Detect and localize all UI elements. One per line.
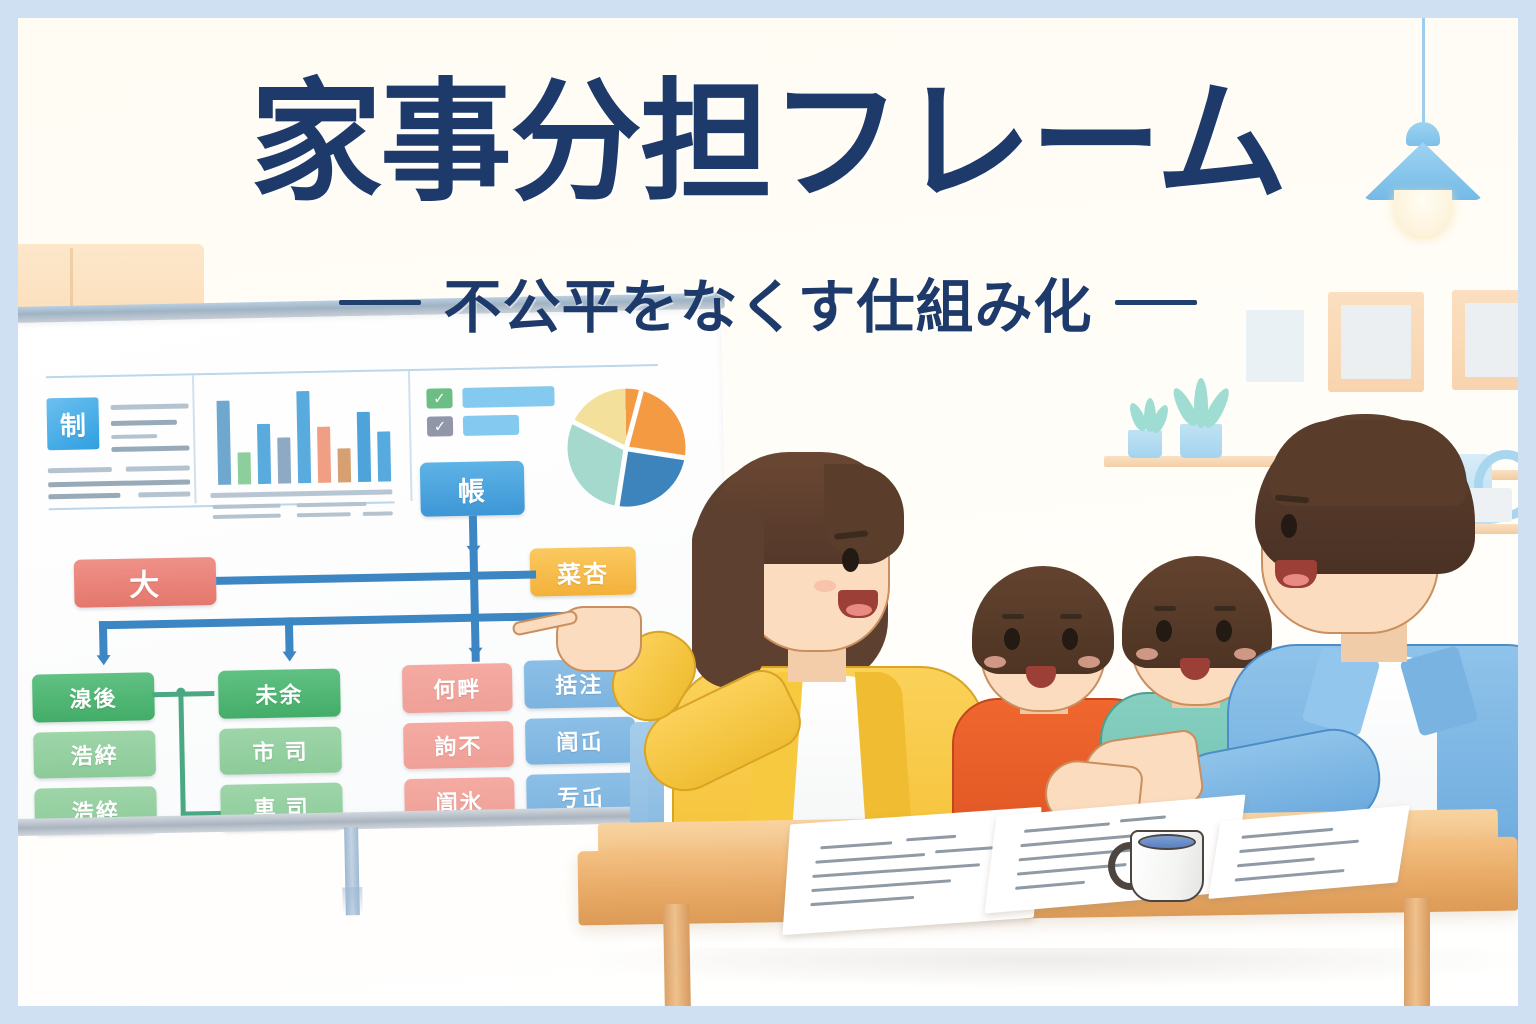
bar-chart-axis xyxy=(210,489,392,498)
bar-chart-caption xyxy=(297,512,351,517)
flow-connector-vertical xyxy=(285,617,294,653)
flow-box[interactable]: 何畔 xyxy=(402,663,513,713)
bar-item xyxy=(277,437,291,483)
flow-connector-vertical xyxy=(99,621,108,657)
paper-text-line xyxy=(1024,822,1110,833)
flow-side-node[interactable]: 菜杏 xyxy=(530,547,637,597)
flow-box[interactable]: 訽不 xyxy=(403,721,514,769)
mother-hair-side xyxy=(692,510,764,688)
checklist-check-icon-2[interactable]: ✓ xyxy=(427,416,453,437)
paper-text-line xyxy=(1237,857,1315,867)
doc-text-line xyxy=(111,445,189,452)
bar-chart-caption xyxy=(213,504,281,509)
bar-item xyxy=(296,391,311,483)
page-title: 家事分担フレーム xyxy=(18,74,1518,213)
father-eye xyxy=(1281,514,1297,538)
child-orange-blush xyxy=(1078,656,1100,668)
paper-text-line xyxy=(1235,869,1345,882)
doc-text-line xyxy=(48,467,112,473)
child-orange-eye xyxy=(1062,628,1078,650)
flow-connector-vertical xyxy=(469,516,480,662)
mother-blush xyxy=(814,580,836,592)
child-teal-eye xyxy=(1216,620,1232,642)
paper-text-line xyxy=(935,846,993,853)
paper-text-line xyxy=(1239,840,1359,854)
flow-arrow-down xyxy=(97,655,111,665)
page-subtitle: 不公平をなくす仕組み化 xyxy=(443,260,1092,344)
whiteboard-rule xyxy=(46,364,658,378)
paper-text-line xyxy=(811,879,951,892)
floor-shadow xyxy=(558,948,1518,988)
mother-tongue xyxy=(846,604,872,616)
whiteboard-divider xyxy=(408,371,413,501)
flow-connector-green xyxy=(178,692,185,816)
bar-item xyxy=(238,452,252,484)
bar-item xyxy=(377,431,391,481)
checklist-bar-1 xyxy=(462,386,554,408)
bar-chart-caption xyxy=(363,511,393,516)
flow-arrow-down xyxy=(469,648,483,658)
child-teal-eye xyxy=(1156,620,1172,642)
child-orange-eyebrow xyxy=(1002,614,1024,619)
paper-text-line xyxy=(1015,881,1085,890)
flow-box[interactable]: 訚屲 xyxy=(525,717,636,765)
subtitle-rule-right xyxy=(1115,300,1197,305)
flow-arrow-down xyxy=(466,546,480,556)
flow-box[interactable]: 湶後 xyxy=(32,672,155,722)
bar-chart-caption xyxy=(297,502,367,507)
child-orange-blush xyxy=(984,656,1006,668)
doc-text-line xyxy=(48,479,190,487)
doc-card-icon: 制 xyxy=(46,397,99,450)
flow-arrow-down xyxy=(283,651,297,661)
doc-text-line xyxy=(48,493,120,499)
bar-item xyxy=(317,427,331,483)
illustration-canvas: 制 xyxy=(0,0,1536,1024)
child-orange-eyebrow xyxy=(1060,614,1082,619)
flow-connector-horizontal xyxy=(216,571,536,585)
paper-text-line xyxy=(815,853,925,864)
flow-box[interactable]: 浩綷 xyxy=(33,730,156,778)
bar-item xyxy=(337,448,351,482)
doc-text-line xyxy=(138,491,190,497)
paper-text-line xyxy=(820,841,892,849)
whiteboard-divider xyxy=(192,375,197,503)
flow-box[interactable]: 市 司 xyxy=(219,726,342,774)
doc-text-line xyxy=(111,420,177,426)
bar-chart-caption xyxy=(213,514,281,519)
doc-text-line xyxy=(111,434,157,439)
plant-small-pot xyxy=(1128,430,1162,458)
mug-liquid xyxy=(1138,834,1196,850)
bar-chart xyxy=(210,385,390,485)
mother-eye xyxy=(842,548,859,572)
paper-text-line xyxy=(810,896,914,906)
father-tongue xyxy=(1283,574,1309,586)
inner-frame: 制 xyxy=(18,18,1518,1006)
father-hair-front xyxy=(1269,420,1467,506)
subtitle-block: 不公平をなくす仕組み化 xyxy=(18,260,1518,344)
flow-connector-horizontal xyxy=(99,612,579,630)
bar-item xyxy=(257,424,271,484)
paper-text-line xyxy=(1241,828,1333,839)
flow-root-node[interactable]: 帳 xyxy=(420,461,525,517)
mother-hair-bang xyxy=(824,464,904,560)
child-teal-eyebrow xyxy=(1154,606,1176,611)
doc-text-line xyxy=(126,465,190,471)
child-orange-eye xyxy=(1004,628,1020,650)
subtitle-rule-left xyxy=(339,300,421,305)
bar-item xyxy=(357,412,371,482)
plant-large-pot xyxy=(1180,424,1222,458)
flow-box[interactable]: 未余 xyxy=(218,668,341,718)
paper-text-line xyxy=(1120,815,1166,822)
flow-highlight-node[interactable]: 大 xyxy=(74,557,217,608)
whiteboard-surface: 制 xyxy=(18,309,731,820)
whiteboard: 制 xyxy=(18,293,735,856)
paper-text-line xyxy=(812,863,980,878)
title-block: 家事分担フレーム xyxy=(18,74,1518,213)
paper-text-line xyxy=(906,835,956,842)
bar-item xyxy=(216,401,231,485)
child-teal-blush xyxy=(1136,648,1158,660)
checklist-check-icon-1[interactable]: ✓ xyxy=(426,388,452,409)
doc-text-line xyxy=(111,403,189,410)
checklist-bar-2 xyxy=(463,415,519,436)
whiteboard-stand-leg xyxy=(344,827,360,915)
